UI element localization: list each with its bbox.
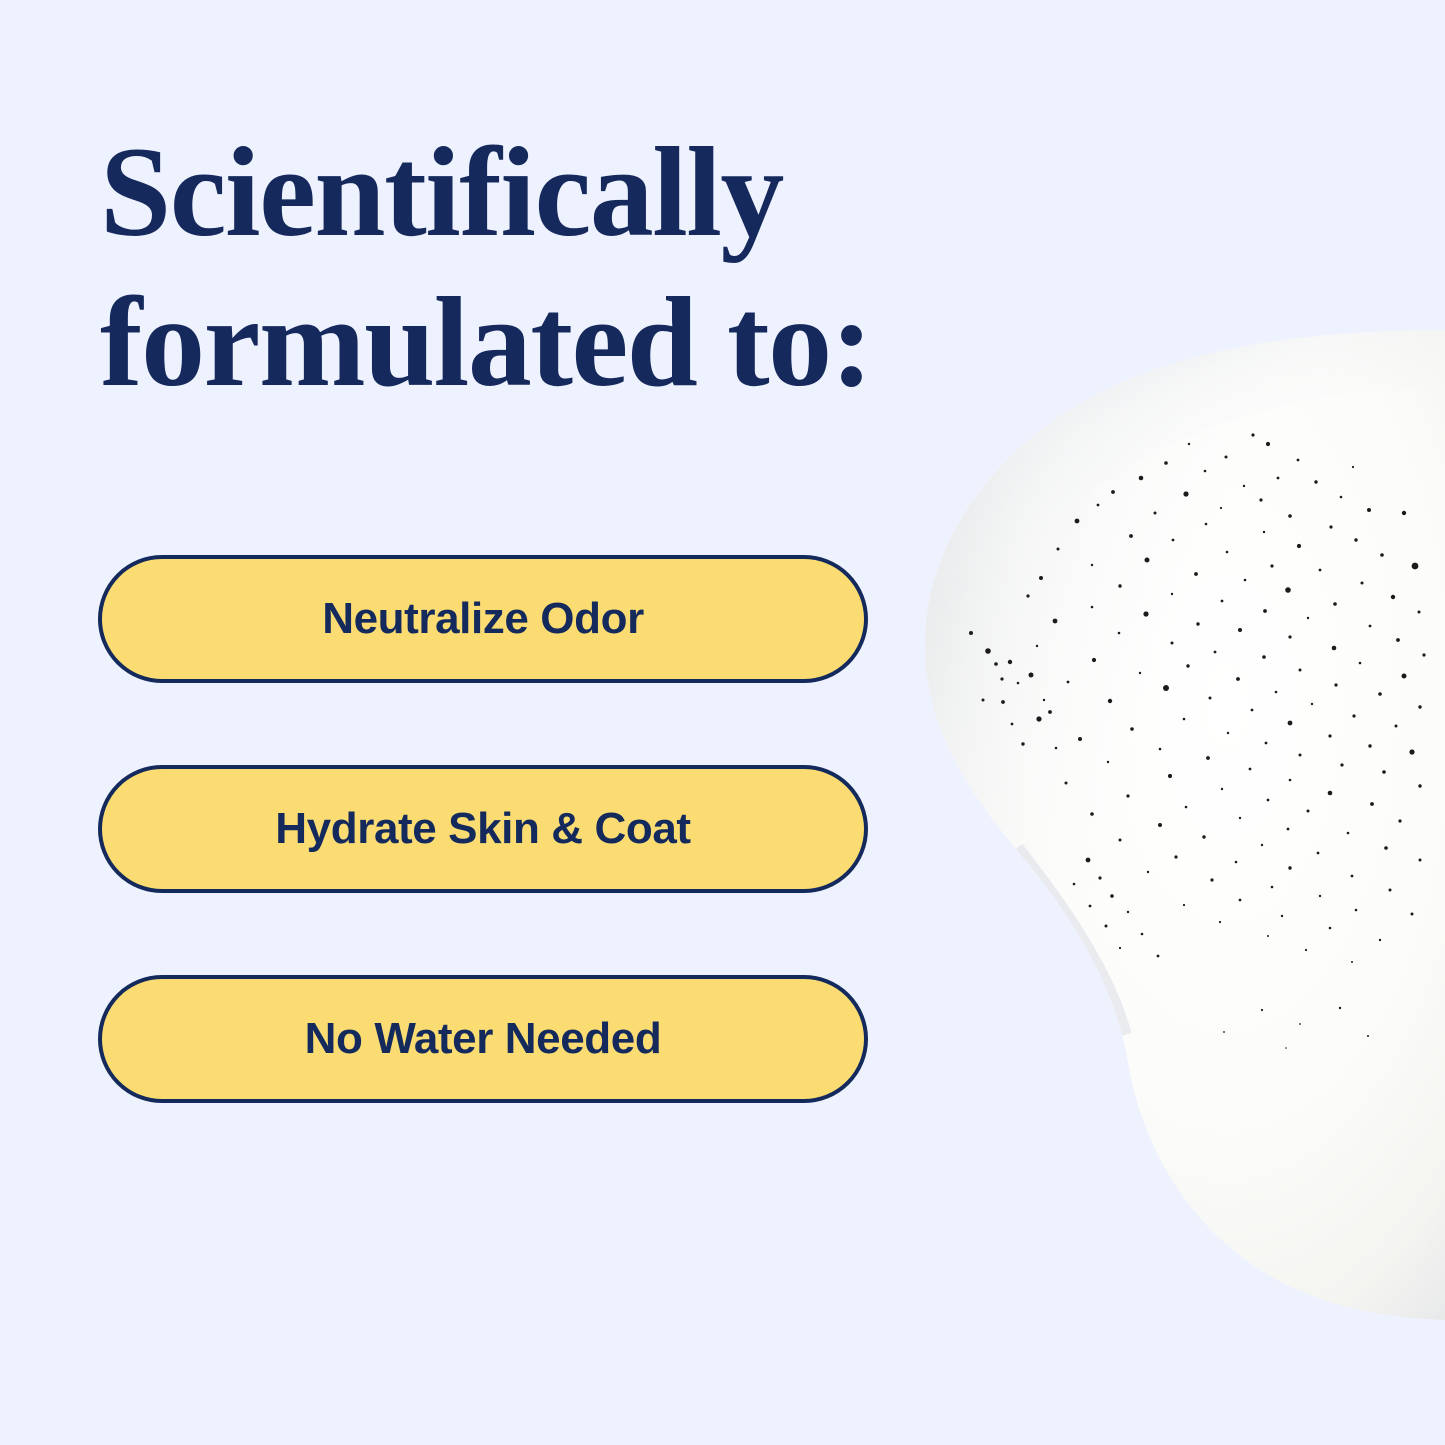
benefit-list: Neutralize Odor Hydrate Skin & Coat No W…: [98, 555, 868, 1103]
benefit-pill-neutralize-odor[interactable]: Neutralize Odor: [98, 555, 868, 683]
page-title-line-2: formulated to:: [100, 268, 960, 418]
page-title-line-1: Scientifically: [100, 118, 960, 268]
benefit-pill-label: Hydrate Skin & Coat: [275, 804, 690, 854]
benefit-pill-label: Neutralize Odor: [322, 594, 644, 644]
benefit-pill-hydrate-skin-coat[interactable]: Hydrate Skin & Coat: [98, 765, 868, 893]
benefit-pill-no-water-needed[interactable]: No Water Needed: [98, 975, 868, 1103]
foam-blob-rim-shadow: [925, 330, 1445, 1320]
page-title: Scientifically formulated to:: [100, 118, 960, 418]
product-benefits-graphic: Scientifically formulated to: Neutralize…: [0, 0, 1445, 1445]
foam-blob-top-shadow: [930, 330, 1445, 593]
foam-blob-crease: [1016, 849, 1124, 1035]
foam-blob-body: [925, 330, 1445, 1320]
benefit-pill-label: No Water Needed: [305, 1014, 662, 1064]
